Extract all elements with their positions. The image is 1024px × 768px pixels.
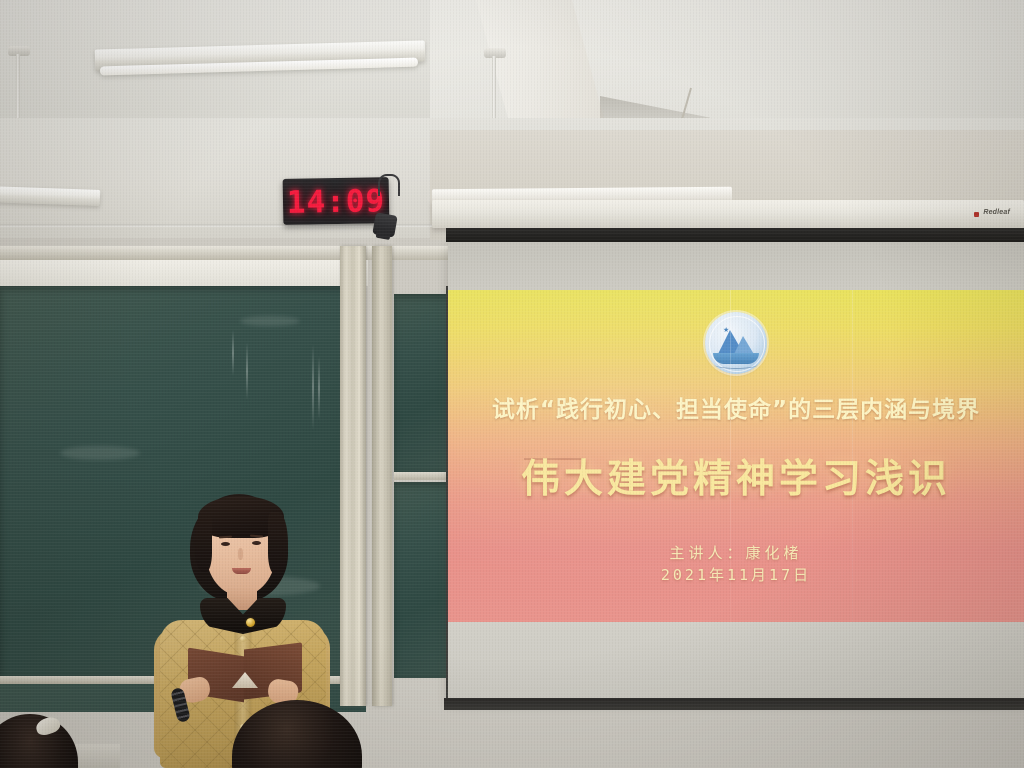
digital-clock: 14:09 xyxy=(283,177,390,225)
presenter-hair-side-right xyxy=(268,512,288,574)
chalkboard-upper-gap xyxy=(0,260,368,286)
screen-blank-band-bottom xyxy=(448,622,1024,700)
presenter-eye-left xyxy=(221,542,230,546)
slide-date-line: 2021年11月17日 xyxy=(448,564,1024,585)
screen-brand-label: Redleaf xyxy=(983,209,1010,216)
projector-screen-surface: ★ 试析“践行初心、担当使命”的三层内涵与境界 伟大建党精神学习浅识 主讲人：康… xyxy=(448,242,1024,700)
presenter-mouth xyxy=(232,568,251,574)
slide-title: 伟大建党精神学习浅识 xyxy=(448,448,1024,504)
chalkboard-side-divider xyxy=(394,472,452,480)
presentation-slide: ★ 试析“践行初心、担当使命”的三层内涵与境界 伟大建党精神学习浅识 主讲人：康… xyxy=(448,290,1024,622)
chalkboard-side-panel-top xyxy=(394,294,452,472)
slide-presenter-line: 主讲人：康化楮 xyxy=(448,542,1024,563)
party-emblem-badge-icon xyxy=(246,618,255,627)
presenter-nose xyxy=(238,548,243,560)
presenter-eye-right xyxy=(252,541,261,545)
clock-cable xyxy=(378,174,400,196)
projector-screen-weight-bar xyxy=(444,698,1024,710)
projector-screen-housing: Redleaf xyxy=(432,200,1024,228)
presenter-hair-side-left xyxy=(194,514,212,572)
institution-logo-icon: ★ xyxy=(705,312,767,374)
projector-screen-top-bar xyxy=(446,228,1024,242)
screen-blank-band-top xyxy=(448,242,1024,290)
chalkboard-side-panel-bottom xyxy=(394,482,452,678)
chalkboard-track-right xyxy=(372,246,392,706)
clock-time-display: 14:09 xyxy=(283,183,390,221)
slide-subtitle: 试析“践行初心、担当使命”的三层内涵与境界 xyxy=(448,390,1024,424)
classroom-photo-scene: 14:09 Redleaf xyxy=(0,0,1024,768)
wall-light-stub-left xyxy=(0,186,100,206)
clock-power-plug xyxy=(372,212,397,237)
